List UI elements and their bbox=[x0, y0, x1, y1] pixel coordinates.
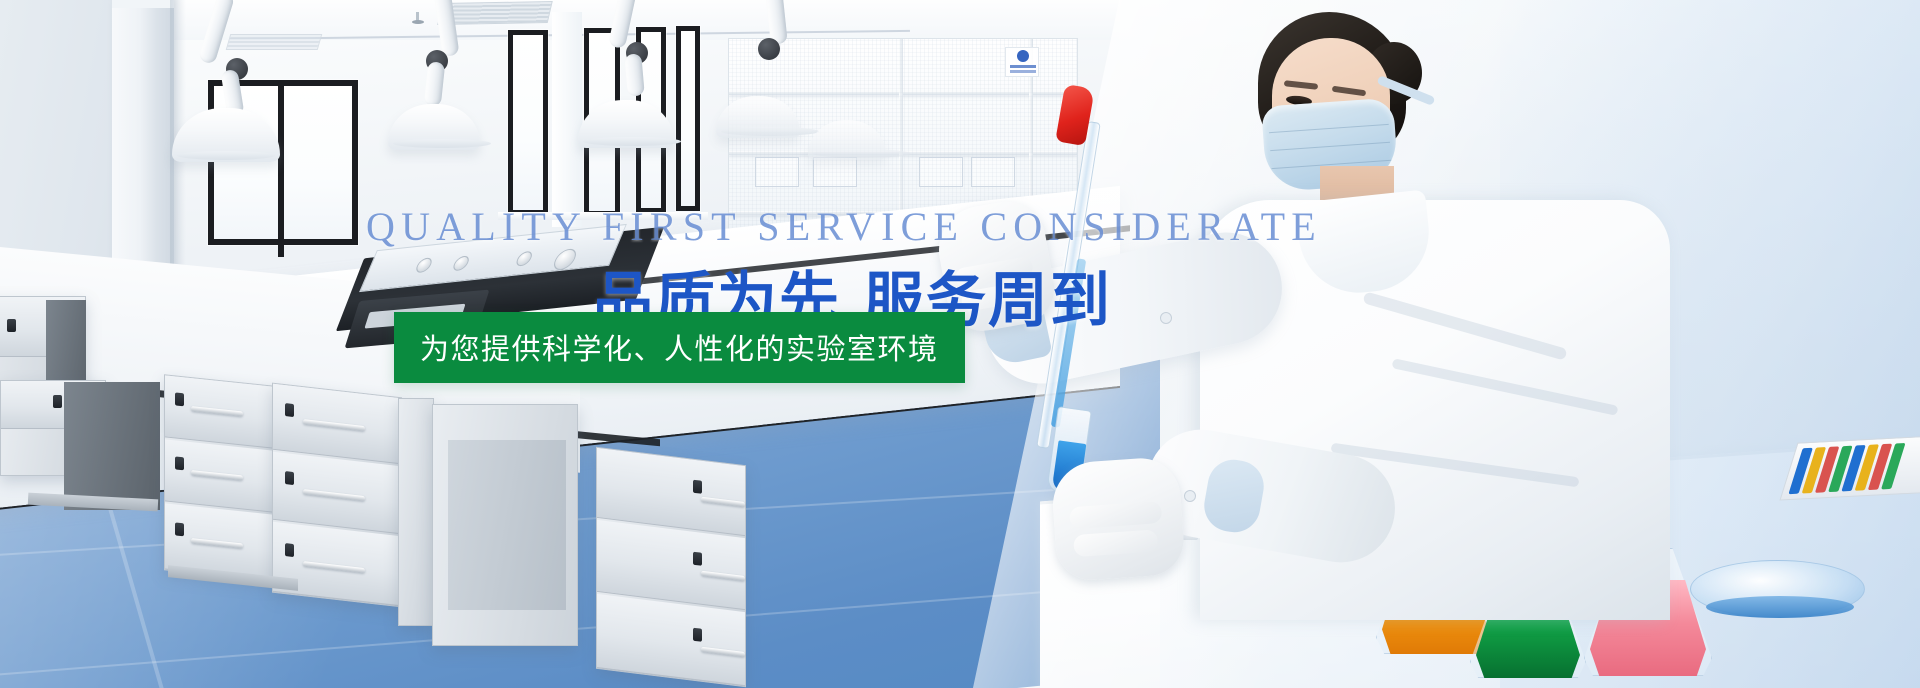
banner-text-layer: QUALITY FIRST SERVICE CONSIDERATE 品质为先 服… bbox=[0, 0, 1920, 688]
lab-hero-banner: QUALITY FIRST SERVICE CONSIDERATE 品质为先 服… bbox=[0, 0, 1920, 688]
banner-subtitle-bar: 为您提供科学化、人性化的实验室环境 bbox=[394, 312, 965, 383]
banner-eyebrow-text: QUALITY FIRST SERVICE CONSIDERATE bbox=[366, 203, 1322, 250]
banner-subtitle-text: 为您提供科学化、人性化的实验室环境 bbox=[420, 332, 939, 366]
